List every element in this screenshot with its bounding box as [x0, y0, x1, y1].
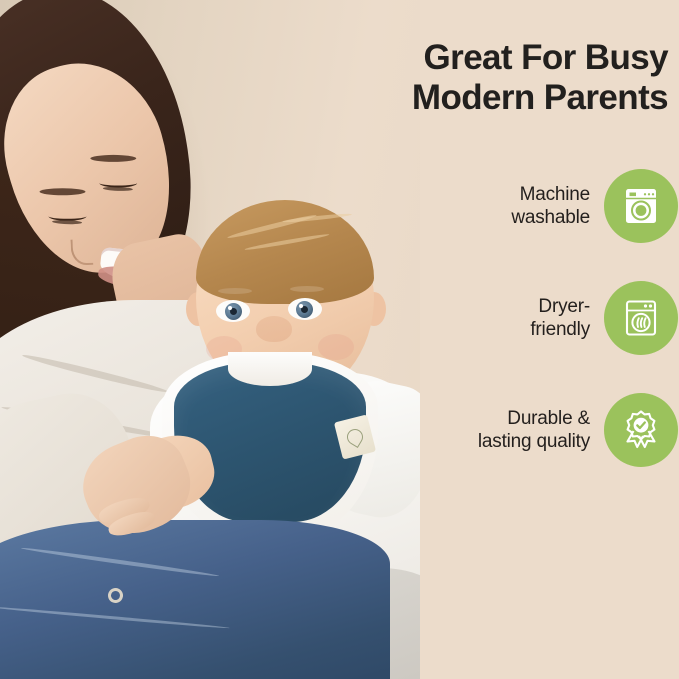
mother-jeans: [0, 520, 390, 679]
feature-label-line-1: Durable &: [478, 407, 590, 430]
baby-brow-left: [218, 288, 252, 294]
feature-list: Machine washable: [330, 150, 678, 486]
feature-label: Durable & lasting quality: [478, 407, 590, 453]
baby-nose: [256, 316, 292, 342]
feature-badge: [604, 393, 678, 467]
washing-machine-icon: [619, 184, 663, 228]
page-title: Great For Busy Modern Parents: [332, 38, 668, 117]
feature-durable-quality: Durable & lasting quality: [330, 374, 678, 486]
feature-badge: [604, 169, 678, 243]
infographic-canvas: Great For Busy Modern Parents Machine wa…: [0, 0, 679, 679]
feature-label-line-1: Dryer-: [530, 295, 590, 318]
feature-label: Machine washable: [511, 183, 590, 229]
feature-label: Dryer- friendly: [530, 295, 590, 341]
headline-line-2: Modern Parents: [332, 78, 668, 118]
headline-line-1: Great For Busy: [424, 38, 668, 77]
feature-badge: [604, 281, 678, 355]
feature-dryer-friendly: Dryer- friendly: [330, 262, 678, 374]
baby-brow-right: [290, 286, 324, 292]
feature-label-line-1: Machine: [511, 183, 590, 206]
clothes-dryer-icon: [619, 296, 663, 340]
feature-machine-washable: Machine washable: [330, 150, 678, 262]
baby-eye-left: [216, 300, 250, 322]
feature-label-line-2: friendly: [530, 318, 590, 341]
bib-neck-opening: [228, 352, 312, 386]
quality-badge-icon: [619, 408, 663, 452]
feature-panel: Great For Busy Modern Parents Machine wa…: [420, 0, 679, 679]
baby-eye-right: [288, 298, 322, 320]
feature-label-line-2: lasting quality: [478, 430, 590, 453]
feature-label-line-2: washable: [511, 206, 590, 229]
